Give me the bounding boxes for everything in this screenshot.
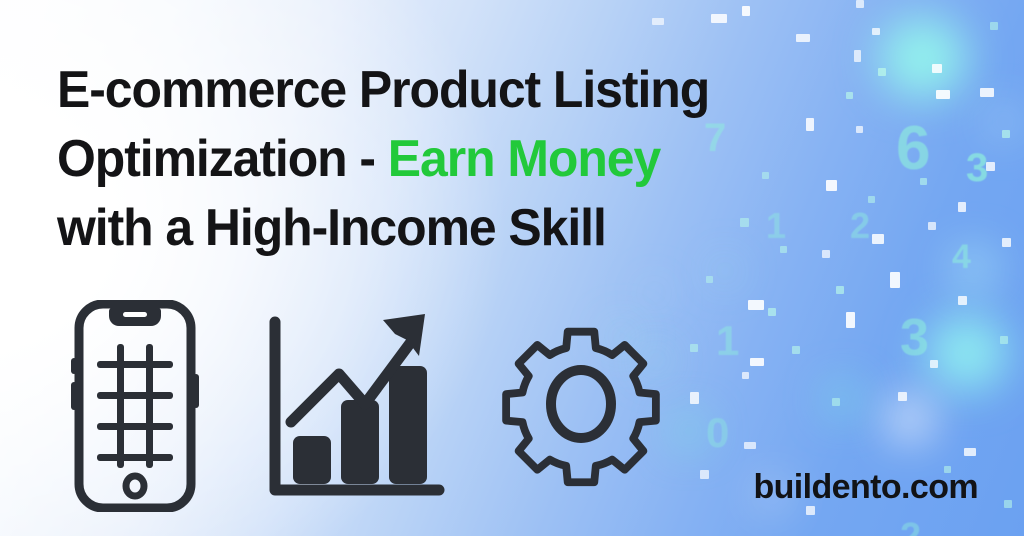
decor-digit: 4 <box>952 240 971 274</box>
decor-particle <box>958 202 966 212</box>
glow-blob <box>830 386 856 412</box>
decor-particle <box>872 28 880 35</box>
decor-particle <box>856 0 864 8</box>
glow-blob <box>952 248 996 290</box>
growth-chart-icon <box>265 308 445 509</box>
headline-line-2-prefix: Optimization - <box>57 130 388 188</box>
site-url: buildento.com <box>753 468 978 507</box>
decor-particle <box>768 308 776 316</box>
headline-line-1: E-commerce Product Listing <box>57 56 854 125</box>
decor-particle <box>700 470 709 479</box>
decor-particle <box>846 312 855 328</box>
decor-particle <box>856 126 863 133</box>
decor-particle <box>928 222 936 230</box>
page-title: E-commerce Product Listing Optimization … <box>57 56 854 263</box>
promo-banner: 7 6 3 2 1 4 1 3 0 2 <box>0 0 1024 536</box>
decor-particle <box>986 162 995 171</box>
decor-digit: 3 <box>966 148 988 188</box>
glow-blob <box>716 262 734 280</box>
decor-particle <box>742 372 749 379</box>
smartphone-icon <box>70 300 200 517</box>
decor-digit: 1 <box>716 320 739 362</box>
decor-particle <box>742 6 750 16</box>
headline-line-3: with a High-Income Skill <box>57 194 854 263</box>
decor-particle <box>872 234 884 244</box>
decor-particle <box>652 18 664 25</box>
decor-particle <box>890 272 900 288</box>
decor-particle <box>711 14 727 23</box>
glow-blob <box>880 18 966 98</box>
decor-particle <box>932 64 942 73</box>
decor-particle <box>832 398 840 406</box>
decor-particle <box>836 286 844 294</box>
decor-particle <box>1000 336 1008 344</box>
glow-blob <box>928 316 1006 390</box>
decor-particle <box>958 296 967 305</box>
decor-particle <box>990 22 998 30</box>
decor-digit: 6 <box>896 118 930 180</box>
decor-digit: 2 <box>900 518 921 536</box>
decor-digit: 0 <box>706 412 729 454</box>
decor-particle <box>1002 130 1010 138</box>
icon-row <box>60 300 700 515</box>
decor-digit: 3 <box>900 312 929 364</box>
decor-particle <box>898 392 907 401</box>
headline-accent: Earn Money <box>388 130 660 188</box>
decor-particle <box>706 276 713 283</box>
glow-blob <box>890 400 930 438</box>
decor-particle <box>1004 500 1012 508</box>
decor-particle <box>980 88 994 97</box>
decor-particle <box>806 506 815 515</box>
decor-particle <box>796 34 810 42</box>
headline-line-2: Optimization - Earn Money <box>57 125 854 194</box>
decor-particle <box>750 358 764 366</box>
decor-particle <box>936 90 950 99</box>
decor-particle <box>930 360 938 368</box>
decor-particle <box>868 196 875 203</box>
decor-particle <box>964 448 976 456</box>
decor-particle <box>878 68 886 76</box>
decor-particle <box>920 178 927 185</box>
glow-blob <box>988 108 1018 136</box>
decor-particle <box>744 442 756 449</box>
decor-particle <box>748 300 764 310</box>
decor-particle <box>854 50 861 62</box>
glow-blob <box>646 285 662 301</box>
gear-icon <box>500 314 662 501</box>
decor-particle <box>1002 238 1011 247</box>
decor-particle <box>792 346 800 354</box>
